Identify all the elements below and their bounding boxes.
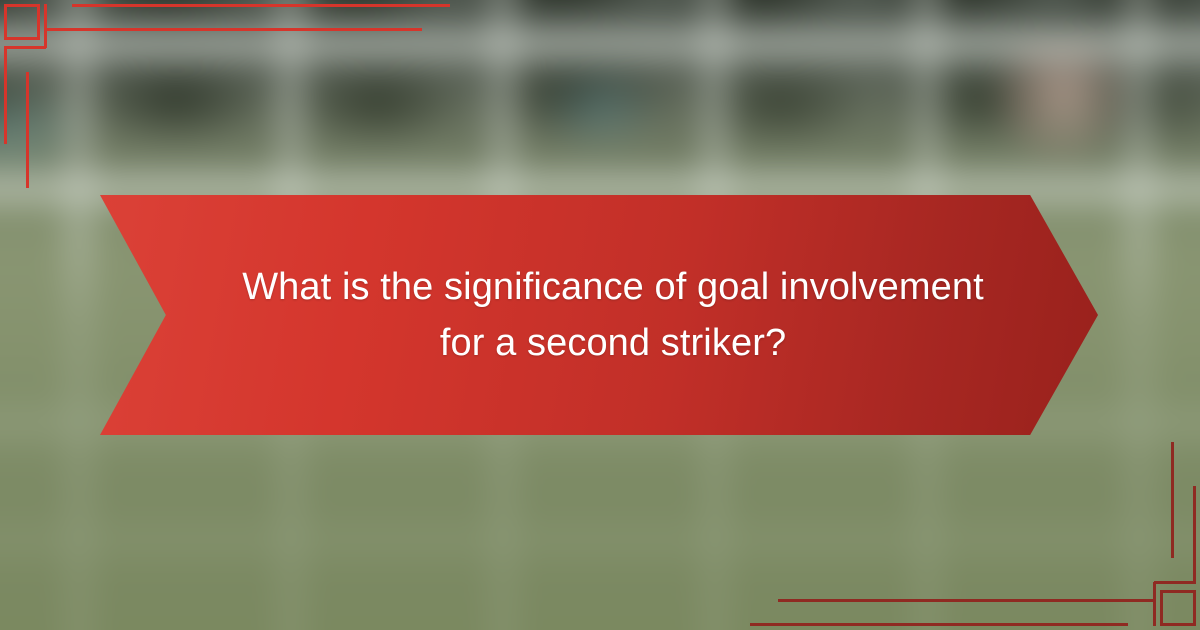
corner-line-left-outer: [4, 48, 7, 144]
corner-line-bottom-inner: [778, 599, 1156, 602]
corner-bracket-bottom-right: [1000, 480, 1200, 630]
question-line-2: for a second striker?: [242, 315, 984, 371]
corner-line-bottom-outer: [750, 623, 1128, 626]
corner-elbow-horizontal: [4, 46, 46, 49]
corner-square-top-left: [4, 4, 40, 40]
corner-line-left-inner: [26, 72, 29, 188]
question-text: What is the significance of goal involve…: [188, 259, 1010, 371]
question-line-1: What is the significance of goal involve…: [242, 259, 984, 315]
corner-bracket-top-left: [0, 0, 200, 150]
corner-line-top-outer: [72, 4, 450, 7]
corner-line-right-outer: [1193, 486, 1196, 582]
corner-line-right-inner: [1171, 442, 1174, 558]
corner-line-top-inner: [44, 28, 422, 31]
corner-elbow-vertical-br: [1153, 582, 1156, 626]
corner-elbow-horizontal-br: [1154, 581, 1196, 584]
question-banner: What is the significance of goal involve…: [100, 195, 1098, 435]
question-card: What is the significance of goal involve…: [0, 0, 1200, 630]
corner-elbow-vertical: [44, 4, 47, 48]
corner-square-bottom-right: [1160, 590, 1196, 626]
